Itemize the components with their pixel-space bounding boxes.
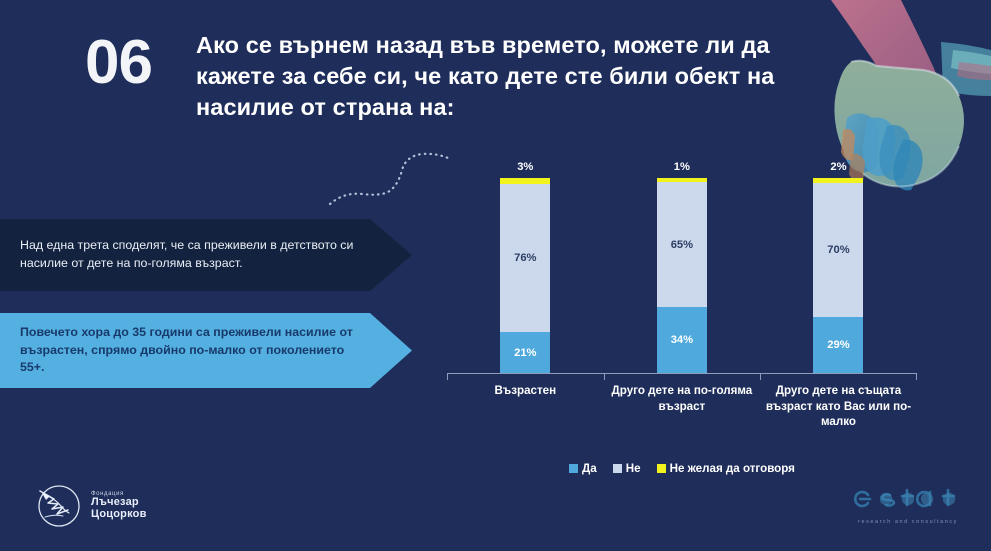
legend-item-yes[interactable]: Да <box>569 462 597 475</box>
bar-segment-yes: 29% <box>813 317 863 373</box>
x-axis-line <box>447 373 917 374</box>
bird-circle-emblem-icon <box>36 483 82 529</box>
dotted-curve-decoration <box>328 148 452 215</box>
legend-swatch-no <box>613 464 622 473</box>
stacked-bar: 1% 65% 34% <box>657 178 707 373</box>
bar-segment-no: 76% <box>500 184 550 332</box>
bar-label-na: 3% <box>517 161 533 173</box>
callout-box-2: Повечето хора до 35 години са преживели … <box>0 313 412 388</box>
foundation-logo-text: Фондация Лъчезар Цоцорков <box>91 491 147 521</box>
legend-swatch-yes <box>569 464 578 473</box>
foundation-logo: Фондация Лъчезар Цоцорков <box>36 483 147 529</box>
x-axis-label: Възрастен <box>447 383 604 399</box>
legend-item-no[interactable]: Не <box>613 462 641 475</box>
axis-tick <box>760 373 761 380</box>
axis-tick <box>604 373 605 380</box>
callout-box-1: Над една трета споделят, че са преживели… <box>0 219 412 291</box>
page-title: Ако се върнем назад във времето, можете … <box>196 30 816 123</box>
callout-text-2: Повечето хора до 35 години са преживели … <box>0 324 412 378</box>
axis-tick <box>916 373 917 380</box>
stacked-bar: 3% 76% 21% <box>500 178 550 373</box>
legend-label-no: Не <box>626 462 641 475</box>
legend-label-na: Не желая да отговоря <box>670 462 795 475</box>
bar-label-na: 1% <box>674 161 690 173</box>
bar-segment-yes: 21% <box>500 332 550 373</box>
bar-label-yes: 29% <box>827 339 849 351</box>
bar-column-2: 2% 70% 29% <box>760 170 917 373</box>
bar-label-yes: 21% <box>514 347 536 359</box>
bar-segment-yes: 34% <box>657 307 707 373</box>
bar-segment-no: 65% <box>657 182 707 307</box>
bar-column-1: 1% 65% 34% <box>604 170 761 373</box>
slide-root: { "header": { "slide_number": "06", "tit… <box>0 0 991 551</box>
bar-label-na: 2% <box>830 161 846 173</box>
estat-logo: research and consultancy <box>852 486 964 525</box>
slide-number: 06 <box>85 32 152 94</box>
legend-item-na[interactable]: Не желая да отговоря <box>657 462 795 475</box>
estat-logo-subtitle: research and consultancy <box>852 519 964 525</box>
chart-legend: Да Не Не желая да отговоря <box>447 462 917 475</box>
chart-plot-area: 3% 76% 21% 1% 65% 34% <box>447 170 917 373</box>
legend-swatch-na <box>657 464 666 473</box>
bar-label-yes: 34% <box>671 334 693 346</box>
estat-wordmark-icon <box>852 486 964 512</box>
bar-label-no: 76% <box>514 252 536 264</box>
bar-column-0: 3% 76% 21% <box>447 170 604 373</box>
foundation-logo-line3: Цоцорков <box>91 509 147 521</box>
stacked-bar-chart: 3% 76% 21% 1% 65% 34% <box>447 170 917 445</box>
axis-tick <box>447 373 448 380</box>
x-axis-label: Друго дете на по-голяма възраст <box>604 383 761 414</box>
bar-segment-no: 70% <box>813 183 863 317</box>
stacked-bar: 2% 70% 29% <box>813 178 863 373</box>
callout-text-1: Над една трета споделят, че са преживели… <box>0 237 412 273</box>
legend-label-yes: Да <box>582 462 597 475</box>
bar-label-no: 70% <box>827 244 849 256</box>
dotted-curve-svg <box>328 148 452 210</box>
bar-label-no: 65% <box>671 239 693 251</box>
x-axis <box>447 373 917 381</box>
x-axis-label: Друго дете на същата възраст като Вас ил… <box>760 383 917 430</box>
